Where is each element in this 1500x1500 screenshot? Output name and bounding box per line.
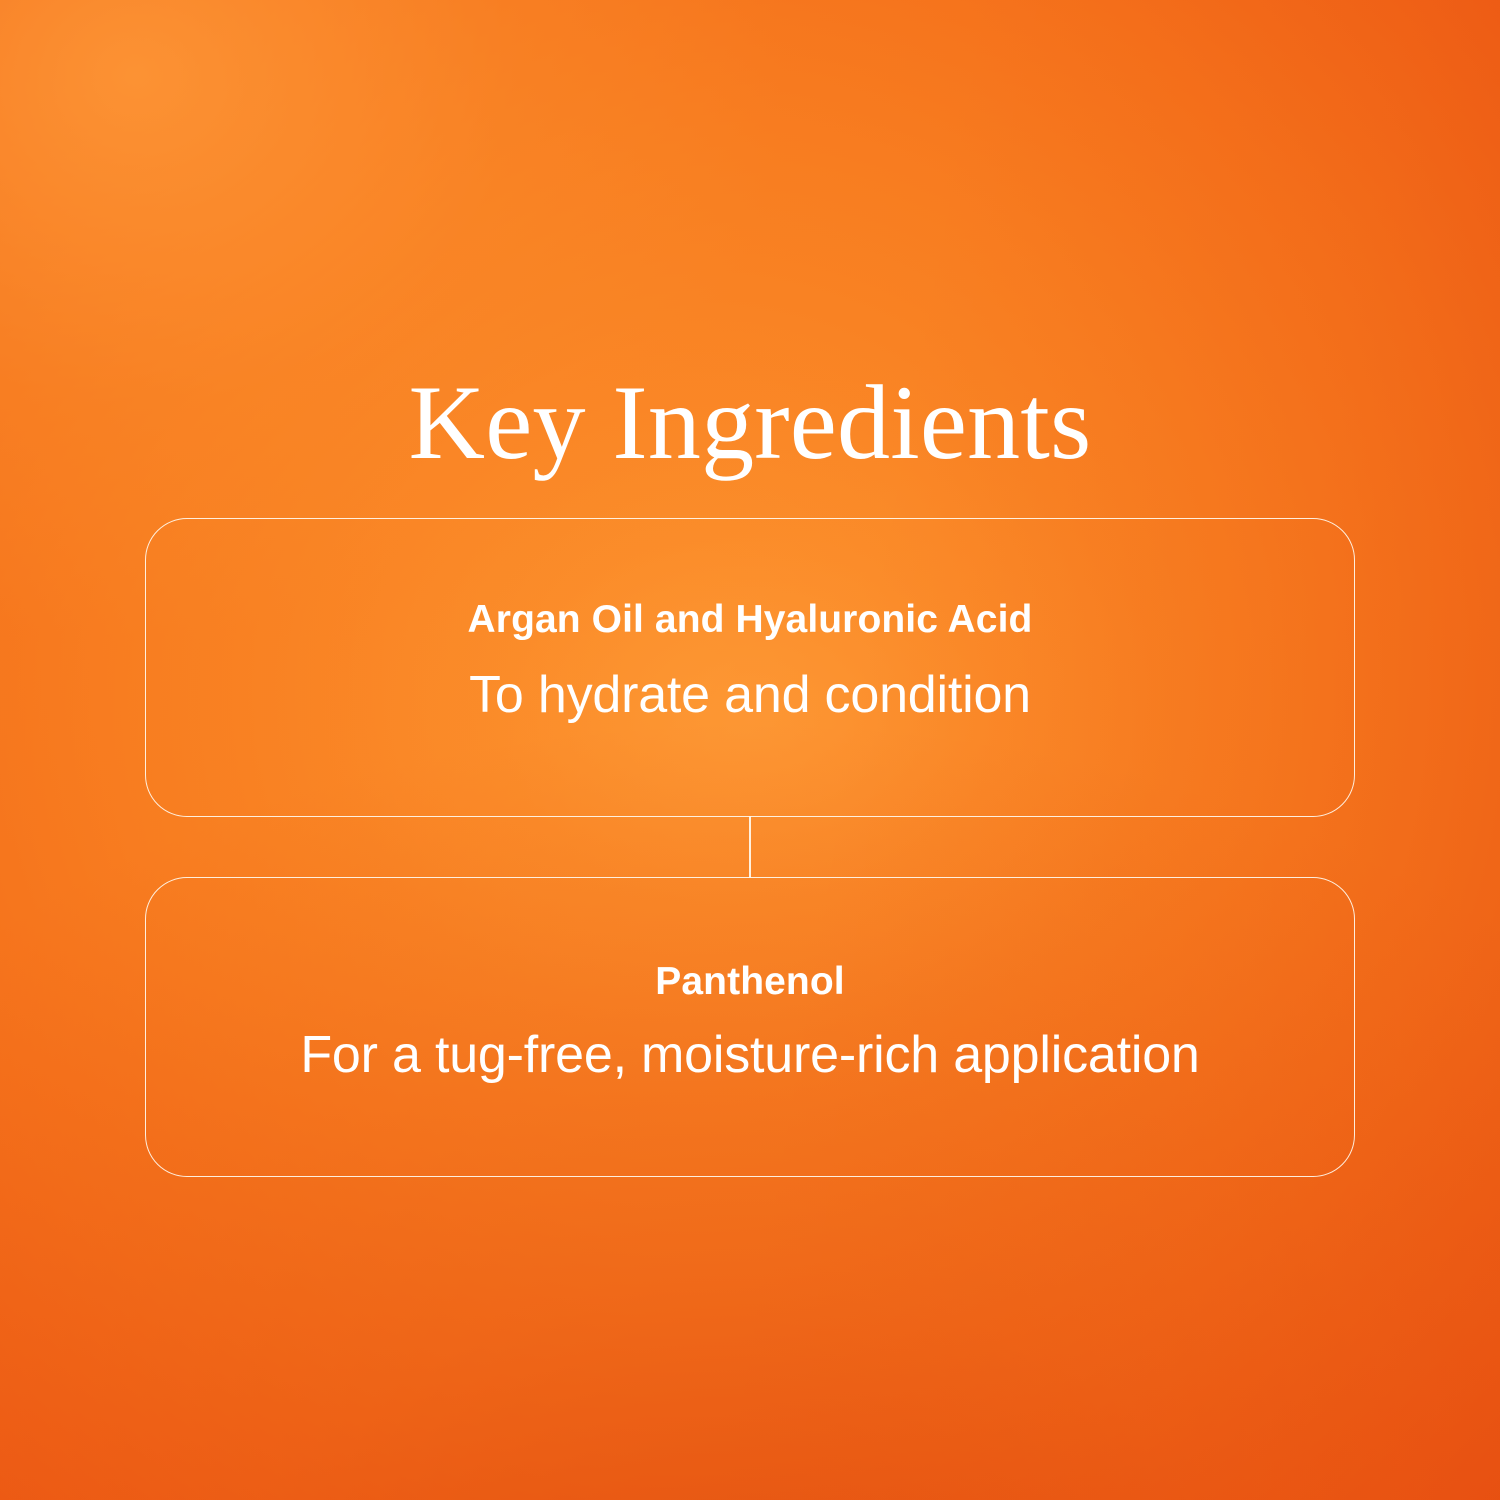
card-content: Panthenol For a tug-free, moisture-rich …	[146, 959, 1354, 1086]
page-title: Key Ingredients	[0, 367, 1500, 479]
ingredient-benefit: To hydrate and condition	[146, 665, 1354, 726]
key-ingredients-panel: Key Ingredients Argan Oil and Hyaluronic…	[0, 0, 1500, 1500]
card-content: Argan Oil and Hyaluronic Acid To hydrate…	[146, 597, 1354, 726]
ingredient-card-argan-oil-hyaluronic-acid: Argan Oil and Hyaluronic Acid To hydrate…	[145, 518, 1355, 817]
ingredient-name: Panthenol	[146, 959, 1354, 1005]
ingredient-card-panthenol: Panthenol For a tug-free, moisture-rich …	[145, 877, 1355, 1177]
ingredient-benefit: For a tug-free, moisture-rich applicatio…	[146, 1025, 1354, 1086]
card-connector-line	[749, 816, 751, 878]
ingredient-name: Argan Oil and Hyaluronic Acid	[146, 597, 1354, 643]
